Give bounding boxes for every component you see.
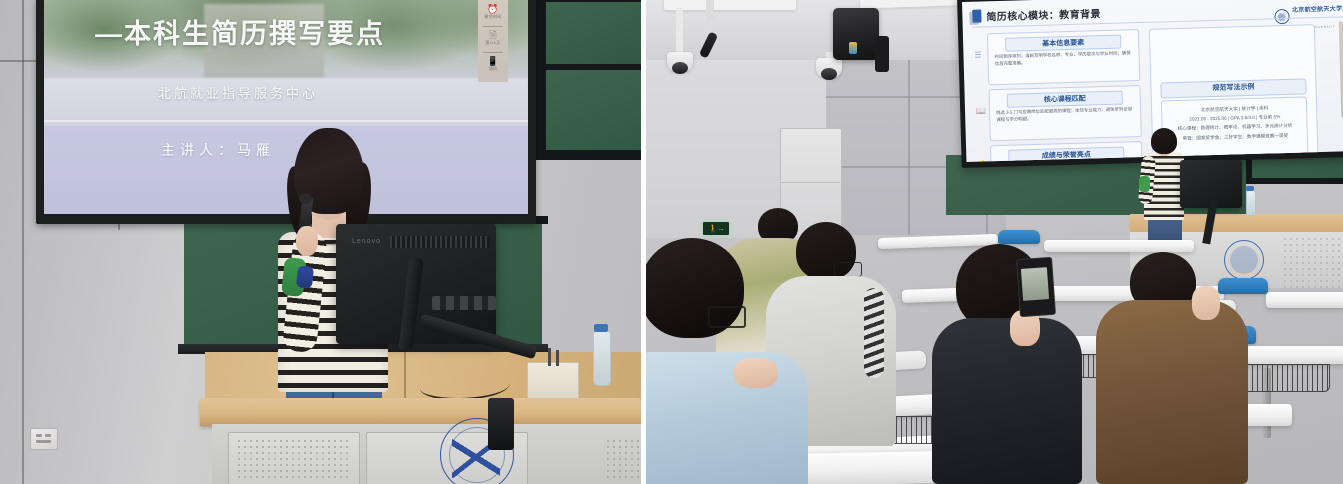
speaker-indicator xyxy=(849,42,857,54)
desk xyxy=(1266,292,1343,308)
podium-vent-grille xyxy=(1282,236,1340,288)
slide-title: —本科生简历撰写要点 xyxy=(72,12,408,51)
podium-desktop xyxy=(200,398,641,426)
audience-body-brown-parka xyxy=(1096,300,1248,484)
water-bottle xyxy=(1246,190,1256,216)
sidebar-item-0[interactable]: ⏰ 剩余时间 xyxy=(478,4,508,20)
chair xyxy=(1218,278,1268,294)
monitor-clamp xyxy=(488,398,514,450)
exit-sign-glyph: 🚶→ xyxy=(708,225,724,233)
university-name: 北京航空航天大学 xyxy=(1292,6,1343,13)
wood-seam xyxy=(404,352,406,402)
bottle-cap xyxy=(594,324,608,332)
audience-hand xyxy=(734,358,778,388)
projection-screen: —本科生简历撰写要点 北航就业指导服务中心 主讲人：马雁 ⏰ 剩余时间 🗎 第1… xyxy=(44,0,528,214)
slide-tool-sidebar[interactable] xyxy=(1339,21,1343,117)
sidebar-item-2[interactable]: 📱 通知 xyxy=(478,56,508,72)
desk-organizer-box xyxy=(527,362,579,402)
slide-card-0: ☰ 基本信息要素 时间倒序排列；清晰写明学校名称、专业、学历层次与学业时间；确保… xyxy=(987,29,1140,85)
desk xyxy=(1246,346,1343,364)
podium-vent-grille xyxy=(605,438,639,482)
slide-card-1-body: 挑选 3-5 门与应聘岗位匹配度高的课程；体现专业能力，避免罗列全部课程与学分明… xyxy=(996,105,1135,124)
exit-sign: 🚶→ xyxy=(703,222,729,235)
slide-card-1: 📖 核心课程匹配 挑选 3-5 门与应聘岗位匹配度高的课程；体现专业能力，避免罗… xyxy=(988,85,1141,141)
beihang-emblem-icon xyxy=(1224,240,1264,280)
ceiling-dome-camera xyxy=(667,52,693,72)
speaker-hand xyxy=(296,226,318,256)
right-photograph: 简历核心模块：教育背景 北京航空航天大学 BEIHANG UNIVERSITY … xyxy=(646,0,1343,484)
university-seal-icon xyxy=(1274,9,1289,24)
pen xyxy=(556,350,559,366)
slide-title: 简历核心模块：教育背景 xyxy=(986,5,1101,23)
audience-hand xyxy=(1192,286,1220,320)
phone-screen xyxy=(1021,267,1049,301)
audience-glasses xyxy=(708,306,746,328)
slide-title-marker xyxy=(972,9,981,22)
monitor-brand-label: Lenovo xyxy=(352,238,381,245)
audience-body-blue-jacket xyxy=(646,352,808,484)
monitor-vent xyxy=(390,236,490,248)
sidebar-label-0: 剩余时间 xyxy=(478,14,508,20)
blue-cuff xyxy=(296,265,314,289)
list-icon: ☰ xyxy=(974,50,981,59)
example-body-box: 北京航空航天大学 | 统计学 | 本科 2021.09 - 2025.06 | … xyxy=(1161,96,1309,162)
bottle-cap xyxy=(1246,186,1254,191)
audience-glasses xyxy=(834,262,862,277)
sidebar-label-2: 通知 xyxy=(478,66,508,72)
phone-icon: 📱 xyxy=(478,56,508,66)
slide-tool-sidebar[interactable]: ⏰ 剩余时间 🗎 第1/1页 📱 通知 xyxy=(478,0,508,82)
chalkboard-panel xyxy=(546,2,641,64)
sidebar-label-1: 第1/1页 xyxy=(478,40,508,46)
pen xyxy=(548,348,551,366)
cabinet-divider xyxy=(780,182,840,183)
left-photograph: —本科生简历撰写要点 北航就业指导服务中心 主讲人：马雁 ⏰ 剩余时间 🗎 第1… xyxy=(0,0,641,484)
clock-icon: ⏰ xyxy=(478,4,508,14)
chalkboard-panel xyxy=(546,70,641,154)
photo-divider xyxy=(641,0,646,484)
chalkboard-frame xyxy=(536,150,641,160)
ceiling-light-panel xyxy=(664,0,796,10)
slide-subtitle: 北航就业指导服务中心 xyxy=(88,83,388,102)
green-cuff xyxy=(1139,176,1150,192)
lecturer-hair xyxy=(1151,128,1177,154)
wall-seam xyxy=(22,0,24,484)
sidebar-item-1[interactable]: 🗎 第1/1页 xyxy=(478,30,508,46)
power-socket xyxy=(30,428,58,450)
hanging-microphone-cable xyxy=(710,0,714,20)
microphone-head xyxy=(299,193,312,204)
desk-basket xyxy=(1242,364,1330,392)
slide-card-0-body: 时间倒序排列；清晰写明学校名称、专业、学历层次与学业时间；确保信息完整准确。 xyxy=(994,49,1133,68)
desk xyxy=(1044,240,1194,252)
hoodie-stripe-trim xyxy=(864,288,884,378)
photo-pair-canvas: —本科生简历撰写要点 北航就业指导服务中心 主讲人：马雁 ⏰ 剩余时间 🗎 第1… xyxy=(0,0,1343,484)
example-heading: 规范写法示例 xyxy=(1161,79,1305,96)
monitor-ports xyxy=(432,296,496,310)
speaker-bracket xyxy=(875,36,889,72)
podium-vent-grille xyxy=(236,438,350,482)
ceiling-dome-camera xyxy=(816,58,842,78)
slide-divider-line xyxy=(44,120,528,122)
page-icon: 🗎 xyxy=(478,30,508,40)
water-bottle xyxy=(593,330,611,386)
chair xyxy=(998,230,1040,244)
audience-body-black-puffer xyxy=(932,318,1082,484)
book-icon: 📖 xyxy=(976,106,986,115)
camera-mount xyxy=(676,8,683,54)
